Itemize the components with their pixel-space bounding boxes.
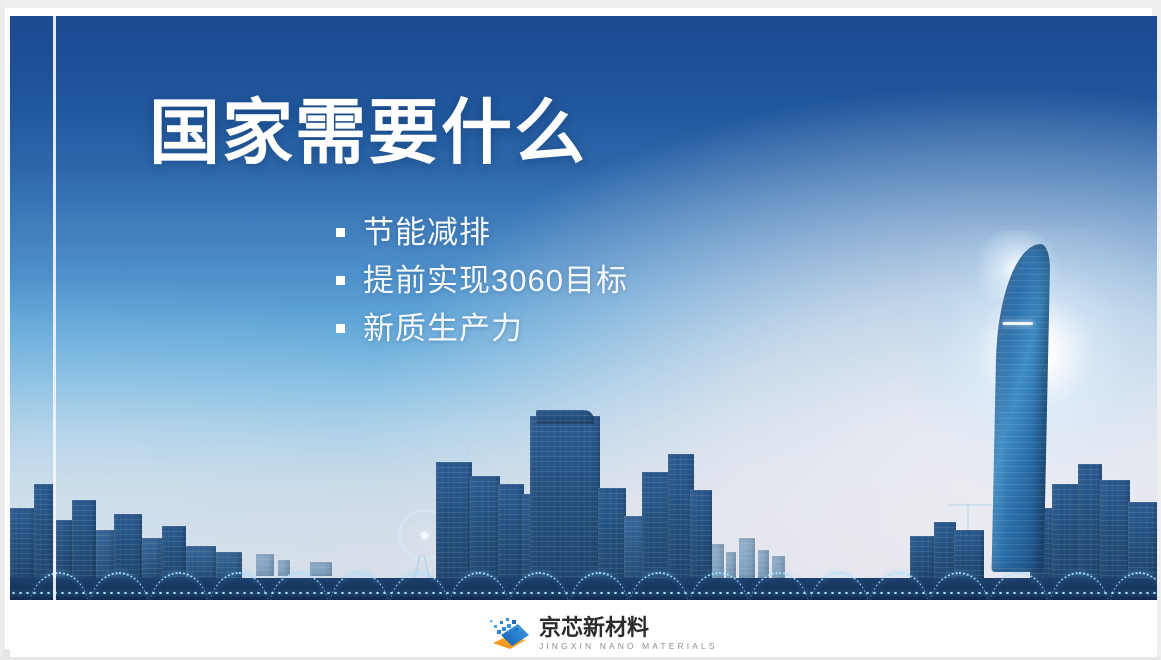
list-item-label: 提前实现3060目标	[363, 265, 628, 296]
building	[56, 520, 72, 580]
logo-tagline: JINGXIN NANO MATERIALS	[539, 641, 718, 651]
slide-footer: 京芯新材料 JINGXIN NANO MATERIALS	[10, 600, 1157, 657]
building	[216, 552, 242, 580]
page-title: 国家需要什么	[149, 94, 587, 174]
building	[114, 514, 142, 580]
list-item: 新质生产力	[336, 304, 628, 352]
jingxin-pixel-rhombus-logo-icon	[488, 616, 532, 652]
crane-jib	[446, 432, 492, 434]
building	[186, 546, 216, 580]
crane-mast	[467, 432, 469, 462]
list-item-label: 新质生产力	[363, 313, 523, 344]
left-accent-rule	[53, 16, 56, 600]
building-far	[739, 538, 755, 578]
logo-company-name: 京芯新材料	[539, 616, 718, 639]
list-item: 节能减排	[336, 208, 628, 256]
company-logo: 京芯新材料 JINGXIN NANO MATERIALS	[488, 616, 718, 652]
hero-background-image: 国家需要什么 节能减排 提前实现3060目标 新质生产力	[10, 16, 1157, 600]
building	[1128, 502, 1157, 580]
square-bullet-icon	[336, 324, 345, 333]
ferris-wheel-support	[408, 554, 436, 578]
building	[96, 530, 114, 580]
building	[436, 462, 472, 580]
bullet-list: 节能减排 提前实现3060目标 新质生产力	[336, 208, 628, 352]
building	[34, 484, 54, 580]
building-far	[310, 562, 332, 576]
building	[142, 538, 162, 580]
building	[498, 484, 524, 580]
building-far	[278, 560, 290, 576]
crane-jib	[948, 504, 992, 506]
building-crown	[536, 410, 594, 424]
building-far	[726, 552, 736, 578]
list-item: 提前实现3060目标	[336, 256, 628, 304]
slide-page: 国家需要什么 节能减排 提前实现3060目标 新质生产力	[0, 0, 1161, 660]
building	[910, 536, 936, 580]
building	[690, 490, 712, 580]
square-bullet-icon	[336, 276, 345, 285]
building	[598, 488, 626, 580]
square-bullet-icon	[336, 228, 345, 237]
building-far	[772, 556, 785, 578]
building	[1052, 484, 1080, 580]
building	[470, 476, 500, 580]
waterfront	[10, 578, 1157, 600]
building	[10, 508, 36, 580]
building-far	[758, 550, 769, 578]
logo-text-block: 京芯新材料 JINGXIN NANO MATERIALS	[539, 616, 718, 651]
building-tall	[530, 416, 600, 580]
building	[954, 530, 984, 580]
building	[72, 500, 96, 580]
building	[162, 526, 186, 580]
building	[1100, 480, 1130, 580]
building-far	[256, 554, 274, 576]
building	[1078, 464, 1102, 580]
city-skyline	[10, 360, 1157, 600]
building	[934, 522, 956, 580]
building-far	[710, 544, 724, 578]
slide-surface: 国家需要什么 节能减排 提前实现3060目标 新质生产力	[10, 16, 1157, 657]
list-item-label: 节能减排	[363, 217, 491, 248]
